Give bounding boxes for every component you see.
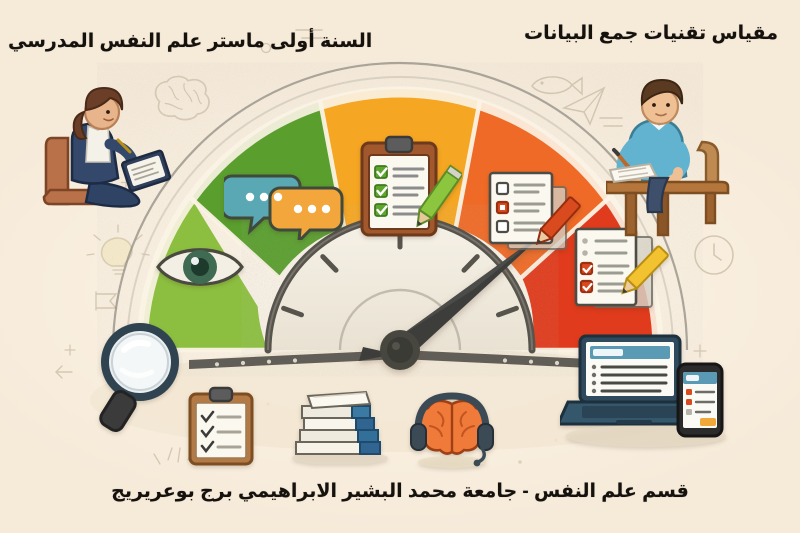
laptop-and-phone-illustration	[560, 330, 740, 450]
program-title: السنة أولى ماستر علم النفس المدرسي	[8, 30, 372, 53]
clipboard-checkmarks-icon	[352, 133, 462, 243]
eye-icon	[152, 234, 248, 296]
student-man-illustration	[606, 78, 776, 238]
brain-headphones-icon	[410, 390, 494, 470]
department-university-footer: قسم علم النفس - جامعة محمد البشير الابرا…	[111, 480, 689, 503]
books-stack-icon	[288, 388, 392, 464]
arrow-sketch-icon	[56, 366, 72, 378]
slide-canvas: مقياس تقنيات جمع البيانات السنة أولى ماس…	[0, 0, 800, 533]
course-title: مقياس تقنيات جمع البيانات	[524, 22, 778, 45]
speech-bubbles-icon	[224, 168, 348, 240]
clipboard-checklist-icon	[184, 386, 258, 468]
magnifier-icon	[84, 320, 192, 436]
psychologist-woman-illustration	[42, 82, 192, 222]
